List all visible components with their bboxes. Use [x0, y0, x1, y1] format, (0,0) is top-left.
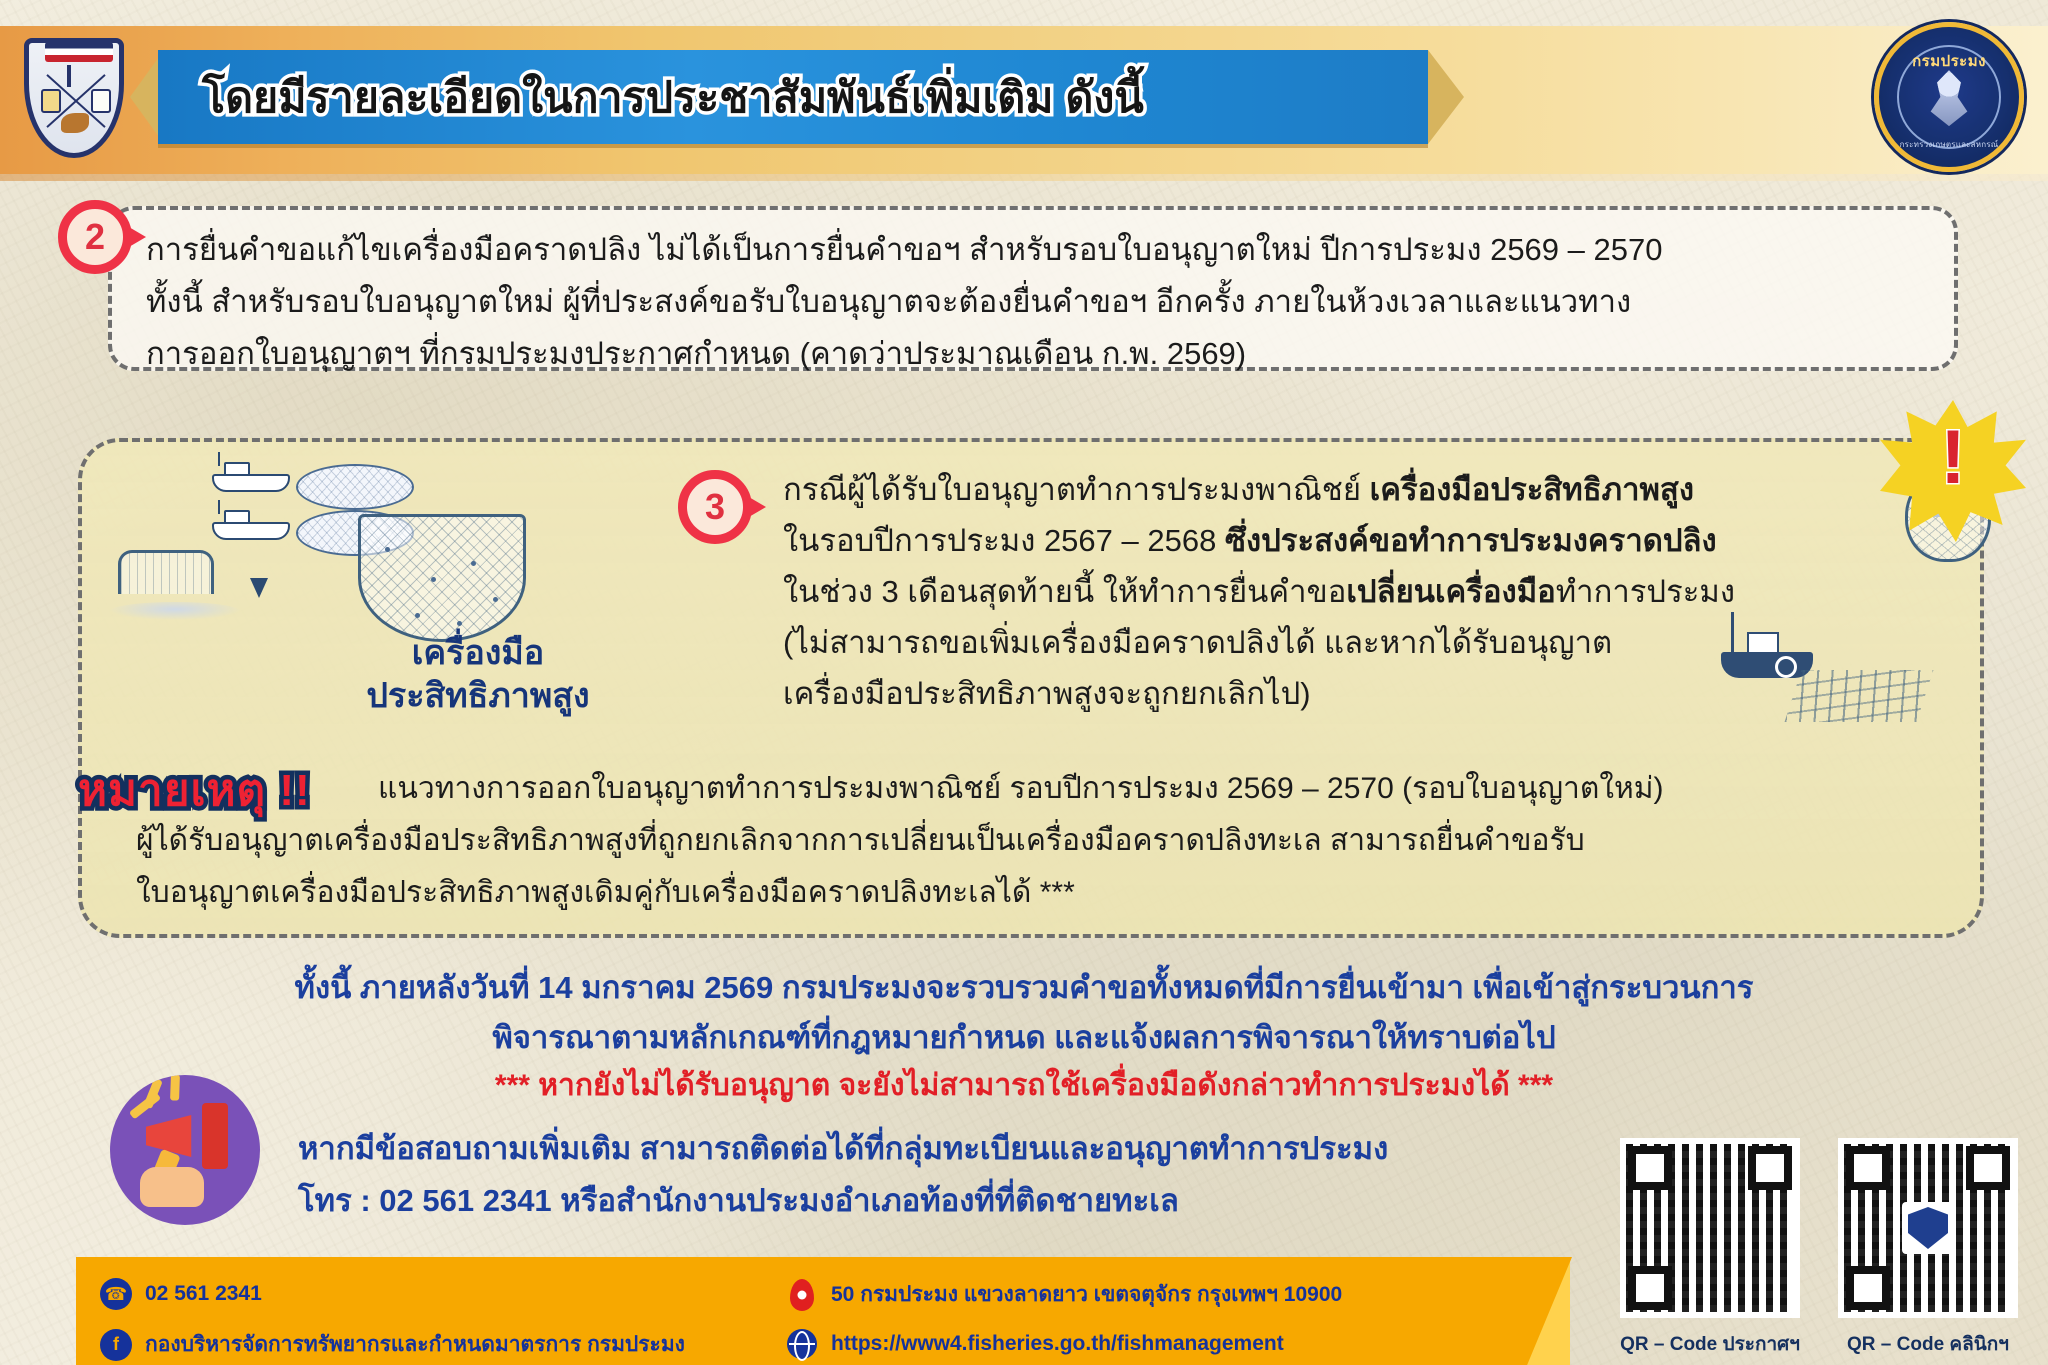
qr-code-clinic[interactable]	[1838, 1138, 2018, 1318]
item-2-number: 2	[85, 216, 105, 258]
item-2-line-3: การออกใบอนุญาตฯ ที่กรมประมงประกาศกำหนด (…	[146, 328, 1662, 380]
footer-facebook-text: กองบริหารจัดการทรัพยากรและกำหนดมาตรการ ก…	[145, 1328, 685, 1361]
note-line-3: ใบอนุญาตเครื่องมือประสิทธิภาพสูงเดิมคู่ก…	[136, 869, 1075, 916]
trap-boat-illustration	[1715, 610, 1965, 730]
purse-seine-net-icon	[358, 514, 526, 642]
infographic-page: โดยมีรายละเอียดในการประชาสัมพันธ์เพิ่มเต…	[0, 0, 2048, 1365]
facebook-icon: f	[100, 1329, 132, 1361]
trawl-net-icon	[296, 464, 414, 510]
item-3-number: 3	[705, 486, 725, 528]
note-line-1: แนวทางการออกใบอนุญาตทำการประมงพาณิชย์ รอ…	[378, 765, 1664, 812]
fishing-gear-illustration: เครื่องมือ ประสิทธิภาพสูง	[100, 460, 660, 710]
footer-phone-text: 02 561 2341	[145, 1282, 262, 1306]
statement-blue-line-2: พิจารณาตามหลักเกณฑ์ที่กฎหมายกำหนด และแจ้…	[0, 1012, 2048, 1062]
seal-bottom-text: กระทรวงเกษตรและสหกรณ์	[1879, 138, 2019, 151]
header-title-ribbon: โดยมีรายละเอียดในการประชาสัมพันธ์เพิ่มเต…	[158, 50, 1428, 144]
item-2-line-1: การยื่นคำขอแก้ไขเครื่องมือคราดปลิง ไม่ได…	[146, 224, 1662, 276]
seal-top-text: กรมประมง	[1879, 49, 2019, 73]
illustration-label-line-2: ประสิทธิภาพสูง	[366, 677, 589, 715]
item-2-number-badge: 2	[58, 200, 132, 274]
note-badge: หมายเหตุ !!	[78, 755, 311, 825]
exclamation-burst-icon: !	[1880, 400, 2026, 542]
qr-code-announcement[interactable]	[1620, 1138, 1800, 1318]
note-line-2: ผู้ได้รับอนุญาตเครื่องมือประสิทธิภาพสูงท…	[136, 817, 1585, 864]
exclamation-mark: !	[1940, 420, 1965, 496]
footer-website-text: https://www4.fisheries.go.th/fishmanagem…	[831, 1332, 1284, 1356]
footer-website[interactable]: https://www4.fisheries.go.th/fishmanagem…	[786, 1328, 1284, 1360]
statement-red-line: *** หากยังไม่ได้รับอนุญาต จะยังไม่สามารถ…	[0, 1062, 2048, 1109]
footer-address-text: 50 กรมประมง แขวงลาดยาว เขตจตุจักร กรุงเท…	[831, 1278, 1342, 1311]
department-of-fisheries-seal-icon: กรมประมง กระทรวงเกษตรและสหกรณ์	[1874, 22, 2024, 172]
megaphone-icon	[110, 1075, 260, 1225]
globe-icon	[786, 1328, 818, 1360]
down-arrow-icon	[250, 578, 268, 598]
fishing-boat-icon	[212, 460, 308, 494]
contact-line-2: โทร : 02 561 2341 หรือสำนักงานประมงอำเภอ…	[298, 1175, 1179, 1225]
phone-icon: ☎	[100, 1278, 132, 1310]
location-pin-icon	[786, 1279, 818, 1311]
footer-address: 50 กรมประมง แขวงลาดยาว เขตจตุจักร กรุงเท…	[786, 1278, 1342, 1311]
item-2-line-2: ทั้งนี้ สำหรับรอบใบอนุญาตใหม่ ผู้ที่ประส…	[146, 276, 1662, 328]
footer-phone: ☎ 02 561 2341	[100, 1278, 262, 1310]
fishing-boat-icon-2	[212, 508, 308, 542]
statement-blue-line-1: ทั้งนี้ ภายหลังวันที่ 14 มกราคม 2569 กรม…	[0, 962, 2048, 1012]
item-2-box: การยื่นคำขอแก้ไขเครื่องมือคราดปลิง ไม่ได…	[108, 206, 1958, 371]
dredge-gear-icon	[110, 540, 240, 626]
illustration-label: เครื่องมือ ประสิทธิภาพสูง	[328, 632, 628, 718]
header-band-edge	[0, 174, 2048, 181]
item-3-number-badge: 3	[678, 470, 752, 544]
item-2-body: การยื่นคำขอแก้ไขเครื่องมือคราดปลิง ไม่ได…	[146, 224, 1662, 380]
qr-caption-clinic: QR – Code คลินิกฯ	[1818, 1329, 2038, 1359]
ministry-emblem-icon	[18, 30, 130, 162]
page-title: โดยมีรายละเอียดในการประชาสัมพันธ์เพิ่มเต…	[202, 63, 1144, 131]
contact-line-1: หากมีข้อสอบถามเพิ่มเติม สามารถติดต่อได้ท…	[298, 1123, 1388, 1173]
qr-caption-announcement: QR – Code ประกาศฯ	[1600, 1329, 1820, 1359]
footer-facebook[interactable]: f กองบริหารจัดการทรัพยากรและกำหนดมาตรการ…	[100, 1328, 685, 1361]
illustration-label-line-1: เครื่องมือ	[412, 634, 544, 672]
